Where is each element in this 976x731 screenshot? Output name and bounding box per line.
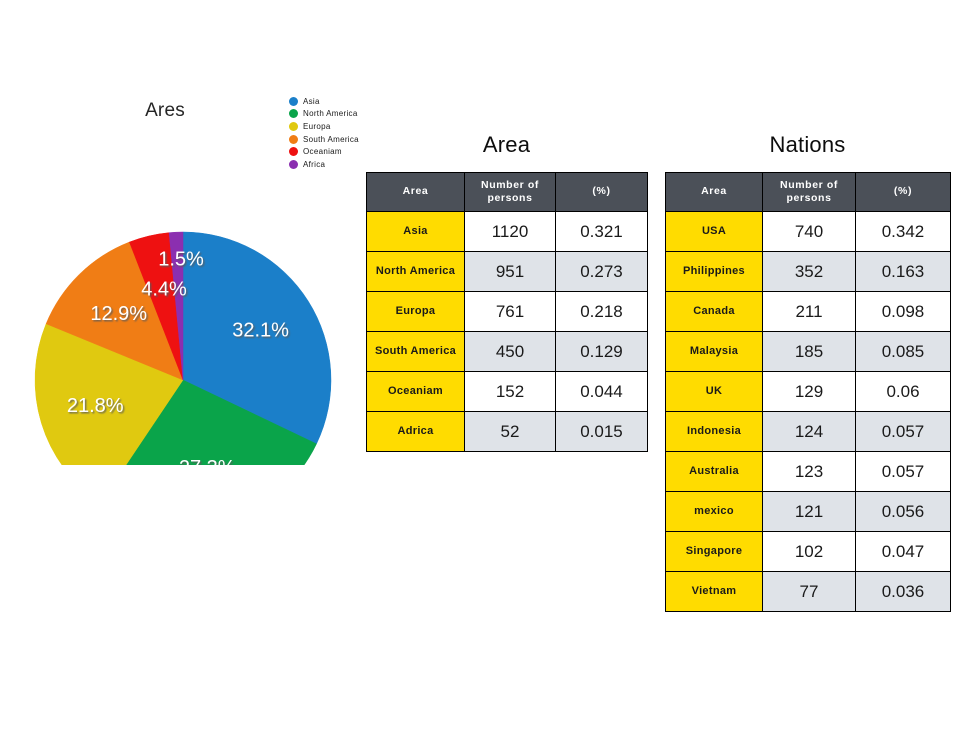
legend-item-label: South America [303,135,359,144]
cell-area-name: UK [666,372,763,412]
cell-percent: 0.218 [556,292,648,332]
pie-slice-value-label: 1.5% [158,248,204,270]
cell-percent: 0.044 [556,372,648,412]
cell-number-of-persons: 352 [763,252,856,292]
cell-area-name: Singapore [666,532,763,572]
cell-percent: 0.098 [856,292,951,332]
cell-percent: 0.06 [856,372,951,412]
cell-percent: 0.163 [856,252,951,292]
nations-table-block: Nations Area Number of persons (%) USA74… [665,132,950,612]
cell-number-of-persons: 77 [763,572,856,612]
cell-area-name: Asia [367,212,465,252]
cell-area-name: mexico [666,492,763,532]
legend-color-swatch-icon [289,147,298,156]
legend-color-swatch-icon [289,135,298,144]
column-header-number-of-persons: Number of persons [465,173,556,212]
cell-percent: 0.321 [556,212,648,252]
cell-number-of-persons: 211 [763,292,856,332]
nations-table-head: Area Number of persons (%) [666,173,951,212]
cell-percent: 0.057 [856,452,951,492]
pie-slice-value-label: 12.9% [90,303,147,325]
legend-item-label: North America [303,109,358,118]
cell-number-of-persons: 450 [465,332,556,372]
nations-table-title: Nations [665,132,950,158]
cell-area-name: Europa [367,292,465,332]
cell-area-name: Indonesia [666,412,763,452]
nations-table-body: USA7400.342Philippines3520.163Canada2110… [666,212,951,612]
cell-number-of-persons: 52 [465,412,556,452]
column-header-percent: (%) [856,173,951,212]
legend-item-label: Oceaniam [303,147,342,156]
area-table-head: Area Number of persons (%) [367,173,648,212]
cell-number-of-persons: 124 [763,412,856,452]
cell-percent: 0.056 [856,492,951,532]
table-header-row: Area Number of persons (%) [367,173,648,212]
cell-area-name: Canada [666,292,763,332]
cell-area-name: South America [367,332,465,372]
table-row: North America9510.273 [367,252,648,292]
table-row: Oceaniam1520.044 [367,372,648,412]
area-table-body: Asia11200.321North America9510.273Europa… [367,212,648,452]
table-header-row: Area Number of persons (%) [666,173,951,212]
pie-slice-value-label: 27.3% [179,457,236,465]
cell-percent: 0.015 [556,412,648,452]
column-header-number-of-persons: Number of persons [763,173,856,212]
cell-percent: 0.047 [856,532,951,572]
pie-slice-value-label: 32.1% [232,319,289,341]
cell-number-of-persons: 740 [763,212,856,252]
cell-area-name: Australia [666,452,763,492]
legend-item-label: Europa [303,122,331,131]
legend-color-swatch-icon [289,109,298,118]
column-header-percent: (%) [556,173,648,212]
column-header-area: Area [666,173,763,212]
table-row: Indonesia1240.057 [666,412,951,452]
cell-percent: 0.273 [556,252,648,292]
cell-number-of-persons: 121 [763,492,856,532]
table-row: UK1290.06 [666,372,951,412]
cell-number-of-persons: 761 [465,292,556,332]
column-header-area: Area [367,173,465,212]
table-row: Asia11200.321 [367,212,648,252]
cell-area-name: Adrica [367,412,465,452]
legend-item-label: Asia [303,97,320,106]
cell-area-name: Vietnam [666,572,763,612]
cell-area-name: Malaysia [666,332,763,372]
cell-number-of-persons: 185 [763,332,856,372]
legend-color-swatch-icon [289,160,298,169]
table-row: South America4500.129 [367,332,648,372]
table-row: Philippines3520.163 [666,252,951,292]
cell-percent: 0.057 [856,412,951,452]
table-row: USA7400.342 [666,212,951,252]
legend-item: North America [289,108,385,121]
cell-number-of-persons: 951 [465,252,556,292]
cell-number-of-persons: 123 [763,452,856,492]
table-row: Vietnam770.036 [666,572,951,612]
cell-number-of-persons: 102 [763,532,856,572]
area-table-block: Area Area Number of persons (%) Asia1120… [366,132,647,452]
area-table-title: Area [366,132,647,158]
legend-item: Europa [289,120,385,133]
table-row: Canada2110.098 [666,292,951,332]
cell-number-of-persons: 129 [763,372,856,412]
table-row: Australia1230.057 [666,452,951,492]
cell-number-of-persons: 152 [465,372,556,412]
cell-percent: 0.036 [856,572,951,612]
pie-slice-value-label: 21.8% [67,395,124,417]
cell-area-name: USA [666,212,763,252]
legend-color-swatch-icon [289,122,298,131]
cell-percent: 0.085 [856,332,951,372]
cell-percent: 0.129 [556,332,648,372]
legend-item-label: Africa [303,160,325,169]
table-row: Singapore1020.047 [666,532,951,572]
cell-percent: 0.342 [856,212,951,252]
nations-table: Area Number of persons (%) USA7400.342Ph… [665,172,951,612]
table-row: Europa7610.218 [367,292,648,332]
legend-color-swatch-icon [289,97,298,106]
table-row: Malaysia1850.085 [666,332,951,372]
table-row: mexico1210.056 [666,492,951,532]
table-row: Adrica520.015 [367,412,648,452]
cell-number-of-persons: 1120 [465,212,556,252]
cell-area-name: North America [367,252,465,292]
area-table: Area Number of persons (%) Asia11200.321… [366,172,648,452]
legend-item: Asia [289,95,385,108]
cell-area-name: Philippines [666,252,763,292]
pie-slice-value-label: 4.4% [141,278,187,300]
cell-area-name: Oceaniam [367,372,465,412]
